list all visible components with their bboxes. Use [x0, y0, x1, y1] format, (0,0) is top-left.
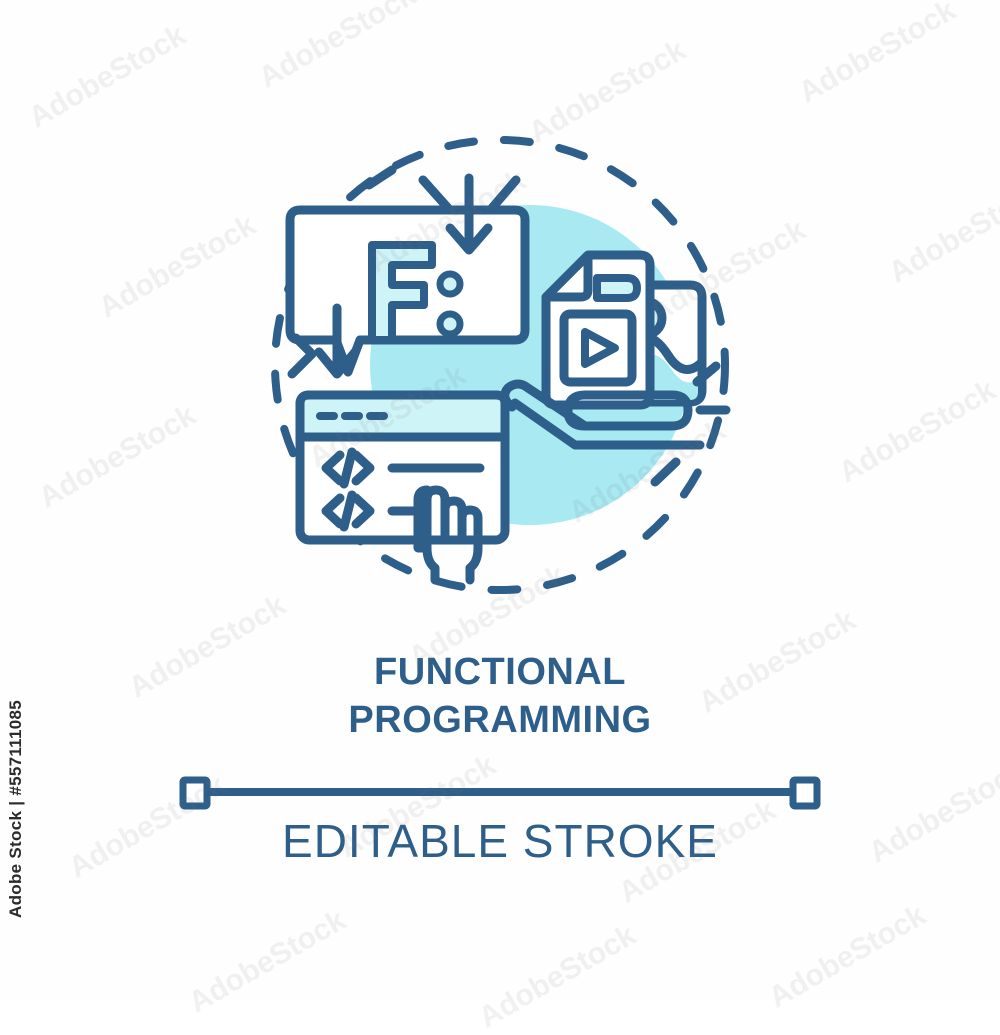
watermark-tile: AdobeStock [473, 919, 642, 1035]
ruler-handle-left[interactable] [183, 780, 207, 806]
watermark-tile: AdobeStock [763, 899, 932, 1016]
editable-stroke-label: EDITABLE STROKE [0, 814, 1000, 868]
colon-dot-upper [440, 274, 460, 294]
watermark-tile: AdobeStock [793, 0, 962, 110]
watermark-left: Adobe Stock | #557111085 [6, 700, 26, 918]
ruler-handle-right[interactable] [793, 780, 817, 806]
colon-dot-lower [440, 314, 460, 334]
concept-illustration [0, 100, 1000, 620]
watermark-tile: AdobeStock [253, 0, 422, 95]
image-canvas: FUNCTIONAL PROGRAMMING EDITABLE STROKE A… [0, 0, 1000, 1000]
video-file-icon [546, 255, 650, 405]
page-title: FUNCTIONAL PROGRAMMING [0, 648, 1000, 744]
watermark-tile: AdobeStock [183, 904, 352, 1021]
stroke-ruler [0, 760, 1000, 820]
